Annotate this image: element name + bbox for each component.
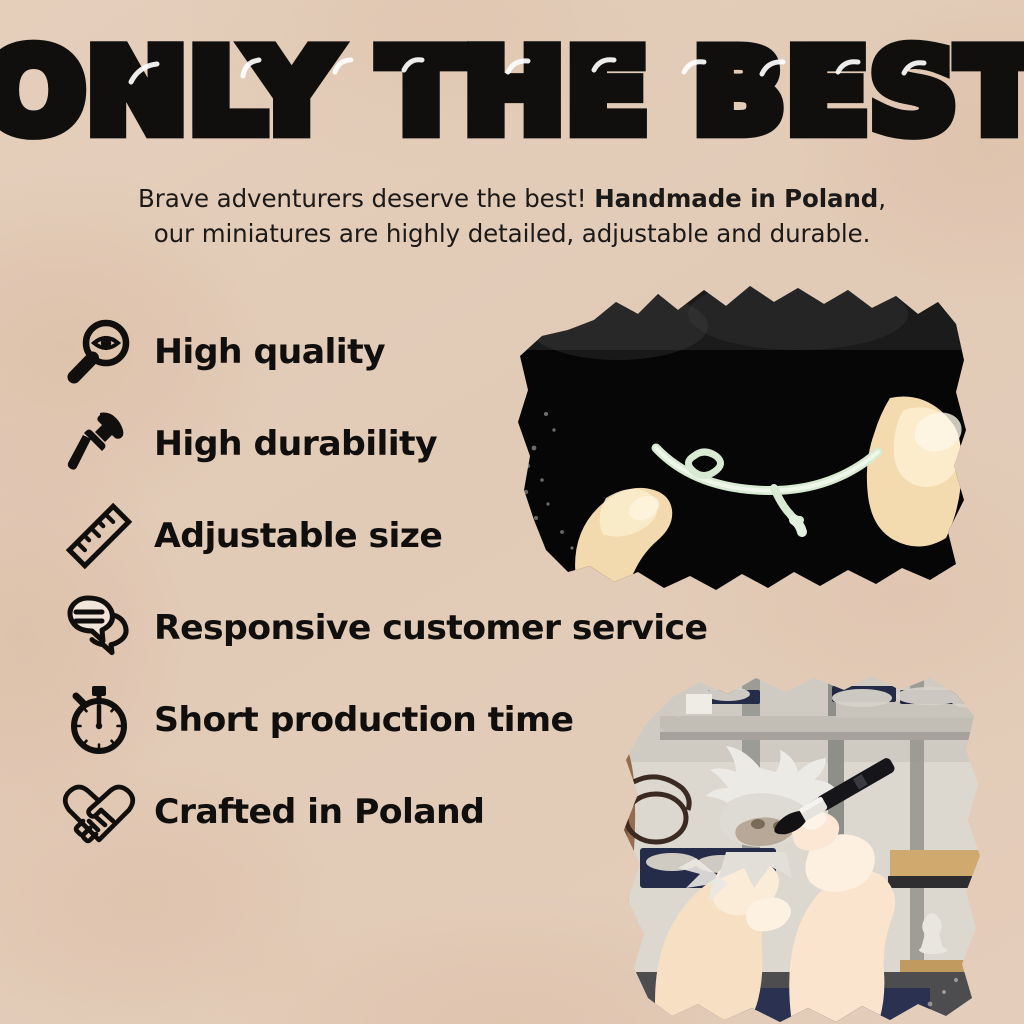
feature-item-customer-service: Responsive customer service xyxy=(60,582,760,674)
feature-item-high-quality: High quality xyxy=(60,306,760,398)
feature-label: High durability xyxy=(154,424,437,464)
feature-label: Short production time xyxy=(154,700,573,740)
subtitle-text-line2: our miniatures are highly detailed, adju… xyxy=(154,219,871,248)
feature-label: Crafted in Poland xyxy=(154,792,484,832)
subtitle-text-lead: Brave adventurers deserve the best! xyxy=(138,184,594,213)
feature-item-adjustable-size: Adjustable size xyxy=(60,490,760,582)
page-subtitle: Brave adventurers deserve the best! Hand… xyxy=(0,182,1024,252)
subtitle-text-comma: , xyxy=(878,184,886,213)
magnifier-eye-icon xyxy=(60,313,138,391)
feature-list: High quality High durability xyxy=(60,306,760,858)
feature-label: Adjustable size xyxy=(154,516,442,556)
heart-handshake-icon xyxy=(60,773,138,851)
page-title: ONLY THE BEST xyxy=(0,36,1024,150)
right-thumb xyxy=(867,397,967,547)
feature-item-crafted-in-poland: Crafted in Poland xyxy=(60,766,760,858)
ruler-icon xyxy=(60,497,138,575)
poster-canvas: ONLY THE BEST Brave adventurers deserve … xyxy=(0,0,1024,1024)
page-title-container: ONLY THE BEST xyxy=(0,36,1024,144)
feature-label: High quality xyxy=(154,332,385,372)
speech-bubbles-icon xyxy=(60,589,138,667)
feature-item-production-time: Short production time xyxy=(60,674,760,766)
hammer-icon xyxy=(60,405,138,483)
subtitle-text-bold: Handmade in Poland xyxy=(594,184,878,213)
feature-item-high-durability: High durability xyxy=(60,398,760,490)
stopwatch-icon xyxy=(60,681,138,759)
feature-label: Responsive customer service xyxy=(154,608,707,648)
